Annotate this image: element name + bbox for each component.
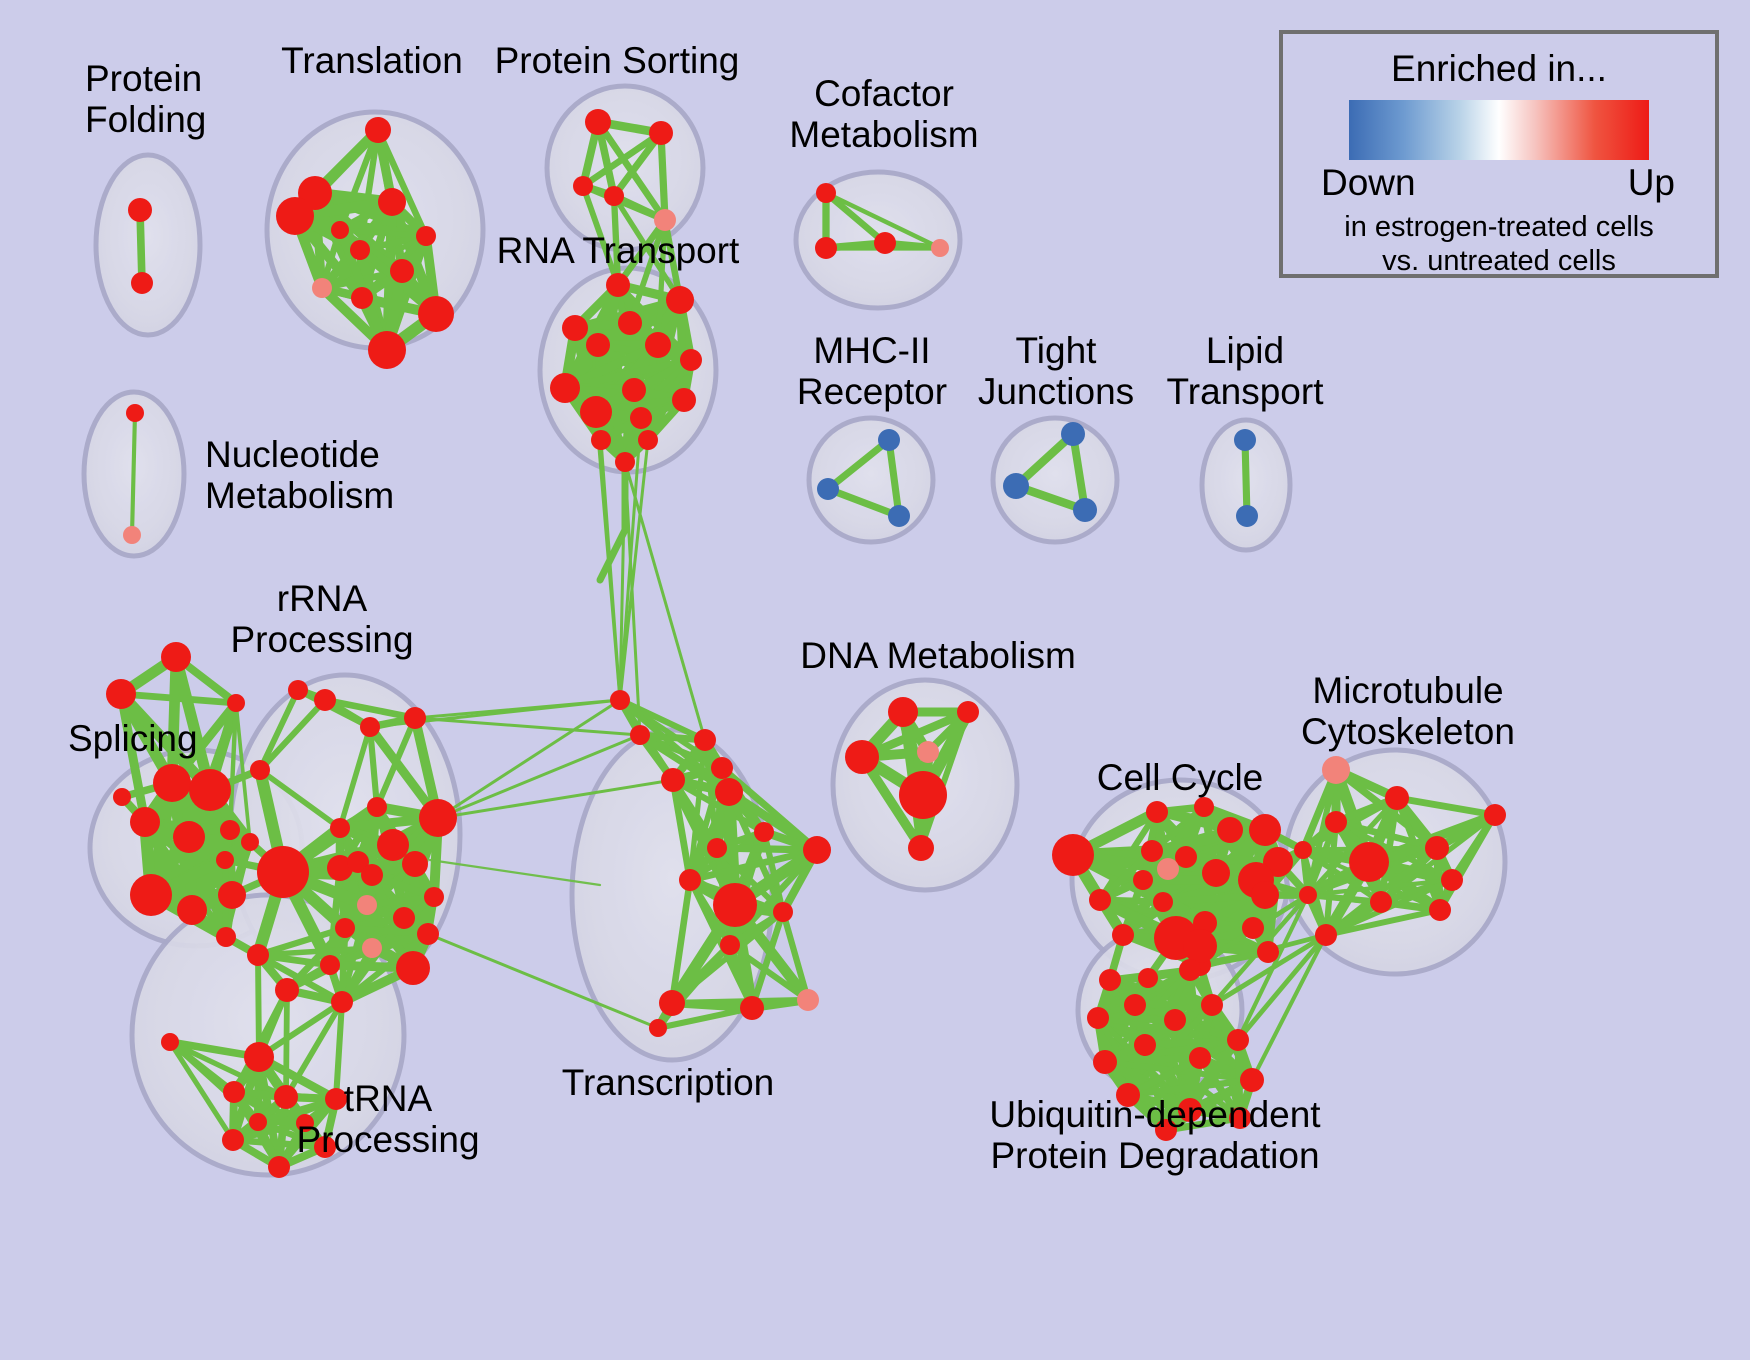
cluster-label-nucleotide-metabolism: Nucleotide Metabolism	[205, 434, 394, 517]
network-node	[1164, 1009, 1186, 1031]
network-node	[222, 1129, 244, 1151]
network-node	[815, 237, 837, 259]
network-node	[268, 1156, 290, 1178]
network-node	[672, 388, 696, 412]
network-edge	[1245, 440, 1247, 516]
network-node	[1249, 814, 1281, 846]
network-node	[241, 833, 259, 851]
network-node	[130, 874, 172, 916]
network-node	[275, 978, 299, 1002]
network-node	[1146, 801, 1168, 823]
network-node	[106, 679, 136, 709]
network-node	[888, 505, 910, 527]
network-node	[1179, 959, 1201, 981]
network-node	[713, 883, 757, 927]
cluster-hull-protein-folding	[96, 155, 200, 335]
legend-title: Enriched in...	[1283, 48, 1715, 90]
network-node	[666, 286, 694, 314]
cluster-label-splicing: Splicing	[68, 718, 198, 759]
network-node	[320, 955, 340, 975]
network-node	[816, 183, 836, 203]
network-node	[1315, 924, 1337, 946]
network-node	[418, 296, 454, 332]
network-node	[645, 332, 671, 358]
network-node	[1061, 422, 1085, 446]
cluster-label-tight-junctions: Tight Junctions	[978, 330, 1134, 413]
cluster-label-dna-metabolism: DNA Metabolism	[800, 635, 1076, 676]
network-node	[754, 822, 774, 842]
network-node	[845, 740, 879, 774]
network-node	[1325, 811, 1347, 833]
network-node	[244, 1042, 274, 1072]
network-node	[1484, 804, 1506, 826]
network-node	[249, 1113, 267, 1131]
network-node	[357, 895, 377, 915]
network-node	[161, 1033, 179, 1051]
network-node	[797, 989, 819, 1011]
network-node	[715, 778, 743, 806]
network-node	[1227, 1029, 1249, 1051]
network-node	[1141, 840, 1163, 862]
network-node	[1099, 969, 1121, 991]
cluster-label-cell-cycle: Cell Cycle	[1097, 757, 1264, 798]
cluster-label-protein-folding: Protein Folding	[85, 58, 206, 141]
network-node	[649, 121, 673, 145]
network-node	[177, 895, 207, 925]
network-node	[1189, 1047, 1211, 1069]
cluster-label-ubiquitin-protein-degradation: Ubiquitin-dependent Protein Degradation	[989, 1094, 1320, 1177]
network-node	[694, 729, 716, 751]
network-node	[586, 333, 610, 357]
network-node	[1087, 1007, 1109, 1029]
legend-scale-endpoints: Down Up	[1329, 162, 1669, 208]
network-node	[917, 741, 939, 763]
network-node	[416, 226, 436, 246]
network-node	[1251, 881, 1279, 909]
network-node	[630, 407, 652, 429]
legend-box: Enriched in... Down Up in estrogen-treat…	[1279, 30, 1719, 278]
network-node	[1201, 994, 1223, 1016]
network-node	[1124, 994, 1146, 1016]
network-node	[350, 240, 370, 260]
network-node	[378, 188, 406, 216]
cluster-label-translation: Translation	[281, 40, 463, 81]
network-node	[1134, 1034, 1156, 1056]
network-node	[773, 902, 793, 922]
network-node	[274, 1085, 298, 1109]
network-node	[606, 273, 630, 297]
network-edge	[717, 848, 817, 850]
network-node	[331, 991, 353, 1013]
network-node	[1157, 858, 1179, 880]
network-node	[1217, 817, 1243, 843]
network-node	[417, 923, 439, 945]
network-node	[1194, 797, 1214, 817]
cluster-label-rrna-processing: rRNA Processing	[230, 578, 413, 661]
network-node	[257, 846, 309, 898]
cluster-label-microtubule-cytoskeleton: Microtubule Cytoskeleton	[1301, 670, 1515, 753]
network-node	[402, 851, 428, 877]
network-node	[1294, 841, 1312, 859]
cluster-label-trna-processing: tRNA Processing	[296, 1078, 479, 1161]
network-node	[161, 642, 191, 672]
network-node	[1183, 929, 1217, 963]
network-node	[312, 278, 332, 298]
network-edge	[415, 718, 640, 735]
network-node	[1257, 941, 1279, 963]
network-node	[659, 990, 685, 1016]
network-node	[878, 429, 900, 451]
network-node	[580, 396, 612, 428]
network-node	[113, 788, 131, 806]
network-node	[288, 680, 308, 700]
color-scale-bar	[1349, 100, 1649, 160]
network-node	[899, 771, 947, 819]
network-node	[1003, 473, 1029, 499]
network-node	[1441, 869, 1463, 891]
network-node	[1112, 924, 1134, 946]
network-node	[223, 1081, 245, 1103]
cluster-hull-protein-sorting	[547, 86, 703, 250]
network-node	[591, 430, 611, 450]
network-node	[365, 117, 391, 143]
network-node	[250, 760, 270, 780]
network-figure: Protein Folding Translation Protein Sort…	[0, 0, 1750, 1360]
network-edge	[286, 990, 287, 1097]
network-node	[649, 1019, 667, 1037]
network-node	[330, 818, 350, 838]
network-node	[368, 331, 406, 369]
network-node	[1240, 1068, 1264, 1092]
network-node	[1236, 505, 1258, 527]
network-node	[220, 820, 240, 840]
network-node	[1089, 889, 1111, 911]
network-node	[957, 701, 979, 723]
network-node	[351, 287, 373, 309]
network-node	[390, 259, 414, 283]
network-edge	[121, 694, 236, 703]
network-node	[276, 197, 314, 235]
cluster-label-protein-sorting: Protein Sorting	[495, 40, 740, 81]
cluster-label-mhc-ii-receptor: MHC-II Receptor	[797, 330, 947, 413]
network-node	[189, 769, 231, 811]
network-node	[615, 452, 635, 472]
network-node	[396, 951, 430, 985]
network-node	[550, 373, 580, 403]
network-node	[419, 799, 457, 837]
network-node	[720, 935, 740, 955]
network-node	[707, 838, 727, 858]
network-node	[573, 176, 593, 196]
network-node	[1322, 756, 1350, 784]
network-edge	[661, 133, 665, 220]
network-node	[1153, 892, 1173, 912]
network-node	[216, 851, 234, 869]
network-node	[888, 697, 918, 727]
network-node	[218, 881, 246, 909]
network-node	[1370, 891, 1392, 913]
cluster-label-lipid-transport: Lipid Transport	[1167, 330, 1324, 413]
network-node	[216, 927, 236, 947]
network-node	[393, 907, 415, 929]
network-node	[604, 186, 624, 206]
network-node	[404, 707, 426, 729]
network-node	[680, 349, 702, 371]
network-node	[227, 694, 245, 712]
network-node	[331, 221, 349, 239]
network-node	[1425, 836, 1449, 860]
network-node	[1052, 834, 1094, 876]
network-node	[711, 757, 733, 779]
network-node	[1349, 842, 1389, 882]
legend-down-label: Down	[1321, 162, 1416, 204]
network-node	[362, 938, 382, 958]
cluster-label-rna-transport: RNA Transport	[497, 230, 740, 271]
network-node	[153, 764, 191, 802]
network-node	[173, 821, 205, 853]
network-node	[630, 725, 650, 745]
network-node	[367, 797, 387, 817]
cluster-label-transcription: Transcription	[562, 1062, 774, 1103]
network-node	[1133, 870, 1153, 890]
network-node	[1299, 886, 1317, 904]
network-node	[562, 315, 588, 341]
network-node	[654, 209, 676, 231]
network-node	[126, 404, 144, 422]
network-node	[1175, 846, 1197, 868]
network-node	[247, 944, 269, 966]
network-node	[1138, 968, 1158, 988]
network-node	[377, 829, 409, 861]
network-node	[1093, 1050, 1117, 1074]
network-node	[638, 430, 658, 450]
legend-up-label: Up	[1628, 162, 1675, 204]
legend-caption: in estrogen-treated cells vs. untreated …	[1283, 210, 1715, 278]
network-node	[123, 526, 141, 544]
network-node	[661, 768, 685, 792]
network-node	[1202, 859, 1230, 887]
network-node	[679, 869, 701, 891]
network-node	[128, 198, 152, 222]
network-node	[131, 272, 153, 294]
network-node	[817, 478, 839, 500]
network-node	[1242, 917, 1264, 939]
network-node	[610, 690, 630, 710]
network-node	[585, 109, 611, 135]
network-node	[360, 717, 380, 737]
network-node	[424, 887, 444, 907]
network-node	[314, 689, 336, 711]
network-node	[130, 807, 160, 837]
network-node	[1429, 899, 1451, 921]
network-node	[931, 239, 949, 257]
cluster-label-cofactor-metabolism: Cofactor Metabolism	[789, 73, 978, 156]
network-node	[1234, 429, 1256, 451]
network-node	[1073, 498, 1097, 522]
network-node	[618, 311, 642, 335]
network-node	[622, 378, 646, 402]
network-node	[361, 864, 383, 886]
network-node	[908, 835, 934, 861]
network-node	[1385, 786, 1409, 810]
network-node	[740, 996, 764, 1020]
network-node	[803, 836, 831, 864]
network-node	[874, 232, 896, 254]
network-node	[335, 918, 355, 938]
